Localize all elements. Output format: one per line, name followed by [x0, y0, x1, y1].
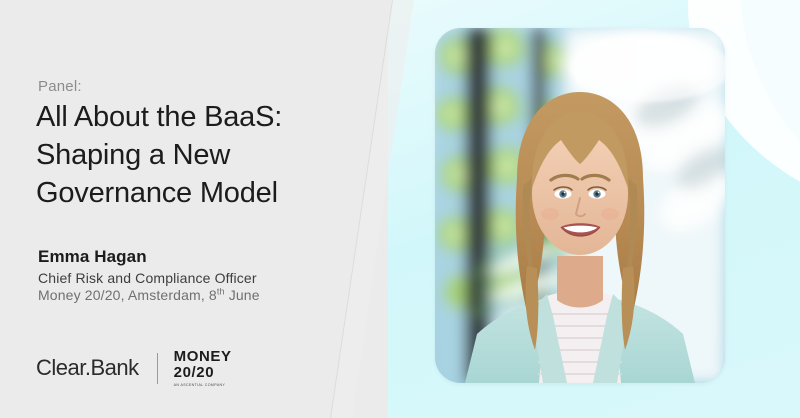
title-line-2: Shaping a New: [36, 136, 366, 174]
eyebrow-label: Panel:: [38, 78, 82, 95]
speaker-event-details: Money 20/20, Amsterdam, 8th June: [38, 287, 260, 303]
clearbank-logo: Clear.Bank: [36, 355, 139, 381]
portrait-illustration: [435, 28, 725, 383]
event-promo-banner: Panel: All About the BaaS: Shaping a New…: [0, 0, 800, 418]
money2020-logo: MONEY 20/20 AN ASCENTIAL COMPANY: [174, 350, 232, 387]
speaker-portrait-photo: [435, 28, 725, 383]
logo-divider: [157, 353, 158, 384]
title-line-3: Governance Model: [36, 174, 366, 212]
event-prefix: Money 20/20, Amsterdam, 8: [38, 287, 217, 303]
event-ordinal-suffix: th: [217, 286, 225, 296]
logo-lockup: Clear.Bank MONEY 20/20 AN ASCENTIAL COMP…: [36, 350, 232, 386]
money2020-logo-line1: MONEY: [174, 350, 232, 364]
speaker-role: Chief Risk and Compliance Officer: [38, 270, 257, 286]
money2020-logo-line2: 20/20: [174, 366, 232, 380]
money2020-logo-tagline: AN ASCENTIAL COMPANY: [174, 383, 232, 387]
title-line-1: All About the BaaS:: [36, 98, 366, 136]
page-title: All About the BaaS: Shaping a New Govern…: [36, 98, 366, 212]
speaker-name: Emma Hagan: [38, 247, 147, 267]
event-month: June: [225, 287, 260, 303]
